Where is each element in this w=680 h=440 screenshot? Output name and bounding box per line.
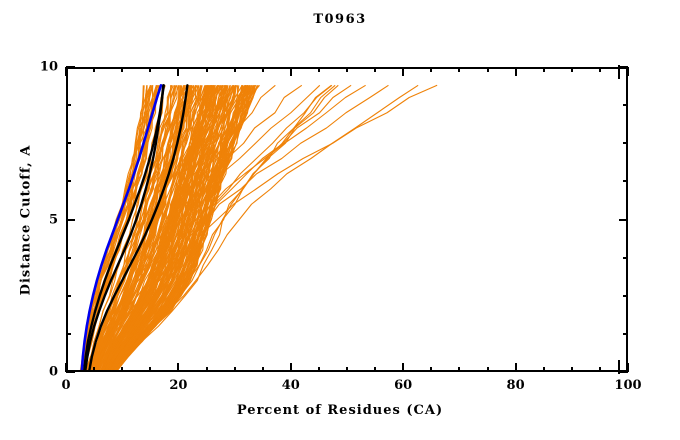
x-tick-label-0: 0 xyxy=(61,378,70,393)
x-tick-50 xyxy=(346,367,348,372)
x-tick-top-85 xyxy=(543,67,545,72)
x-tick-70 xyxy=(458,367,460,372)
chart-root: T0963 0204060801000510 Percent of Residu… xyxy=(0,0,680,440)
x-tick-60 xyxy=(402,363,404,372)
y-tick-right-8.75 xyxy=(623,104,628,106)
y-tick-right-5 xyxy=(619,219,628,221)
y-tick-label-0: 0 xyxy=(20,365,58,380)
chart-title: T0963 xyxy=(0,12,680,27)
y-tick-right-0 xyxy=(619,371,628,373)
x-tick-85 xyxy=(543,367,545,372)
x-tick-label-40: 40 xyxy=(282,378,300,393)
x-tick-10 xyxy=(121,367,123,372)
x-tick-label-60: 60 xyxy=(394,378,412,393)
x-tick-top-50 xyxy=(346,67,348,72)
y-tick-2.5 xyxy=(66,295,71,297)
x-tick-55 xyxy=(374,367,376,372)
x-tick-30 xyxy=(234,367,236,372)
x-tick-80 xyxy=(515,363,517,372)
y-tick-0 xyxy=(66,371,75,373)
x-tick-top-75 xyxy=(487,67,489,72)
x-tick-top-0 xyxy=(65,67,67,76)
x-tick-top-60 xyxy=(402,67,404,76)
x-tick-90 xyxy=(571,367,573,372)
y-tick-5 xyxy=(66,219,75,221)
x-tick-top-5 xyxy=(93,67,95,72)
y-tick-right-2.5 xyxy=(623,295,628,297)
x-tick-15 xyxy=(149,367,151,372)
x-tick-top-100 xyxy=(627,67,629,76)
x-tick-top-70 xyxy=(458,67,460,72)
x-tick-label-20: 20 xyxy=(169,378,187,393)
x-tick-top-30 xyxy=(234,67,236,72)
y-tick-6.25 xyxy=(66,180,71,182)
y-tick-10 xyxy=(66,66,75,68)
y-tick-right-3.75 xyxy=(623,257,628,259)
x-tick-top-95 xyxy=(599,67,601,72)
x-tick-65 xyxy=(430,367,432,372)
y-tick-right-6.25 xyxy=(623,180,628,182)
x-tick-top-40 xyxy=(290,67,292,76)
x-tick-top-35 xyxy=(262,67,264,72)
x-tick-25 xyxy=(206,367,208,372)
x-tick-75 xyxy=(487,367,489,372)
x-tick-20 xyxy=(177,363,179,372)
x-tick-top-10 xyxy=(121,67,123,72)
y-tick-7.5 xyxy=(66,142,71,144)
y-axis-title: Distance Cutoff, A xyxy=(19,120,34,320)
x-tick-top-20 xyxy=(177,67,179,76)
plot-canvas xyxy=(66,67,628,372)
x-tick-45 xyxy=(318,367,320,372)
x-tick-95 xyxy=(599,367,601,372)
plot-area xyxy=(66,67,628,372)
x-tick-label-80: 80 xyxy=(507,378,525,393)
y-tick-right-7.5 xyxy=(623,142,628,144)
x-tick-35 xyxy=(262,367,264,372)
x-tick-top-15 xyxy=(149,67,151,72)
y-tick-3.75 xyxy=(66,257,71,259)
y-tick-8.75 xyxy=(66,104,71,106)
x-tick-top-65 xyxy=(430,67,432,72)
y-tick-right-10 xyxy=(619,66,628,68)
x-tick-top-45 xyxy=(318,67,320,72)
x-tick-label-100: 100 xyxy=(614,378,641,393)
y-tick-1.25 xyxy=(66,333,71,335)
frame-notch-bottom xyxy=(602,372,618,374)
x-tick-top-55 xyxy=(374,67,376,72)
x-tick-5 xyxy=(93,367,95,372)
x-tick-top-25 xyxy=(206,67,208,72)
x-tick-top-90 xyxy=(571,67,573,72)
x-tick-40 xyxy=(290,363,292,372)
x-tick-top-80 xyxy=(515,67,517,76)
y-tick-right-1.25 xyxy=(623,333,628,335)
y-tick-label-10: 10 xyxy=(20,60,58,75)
x-axis-title: Percent of Residues (CA) xyxy=(0,403,680,418)
